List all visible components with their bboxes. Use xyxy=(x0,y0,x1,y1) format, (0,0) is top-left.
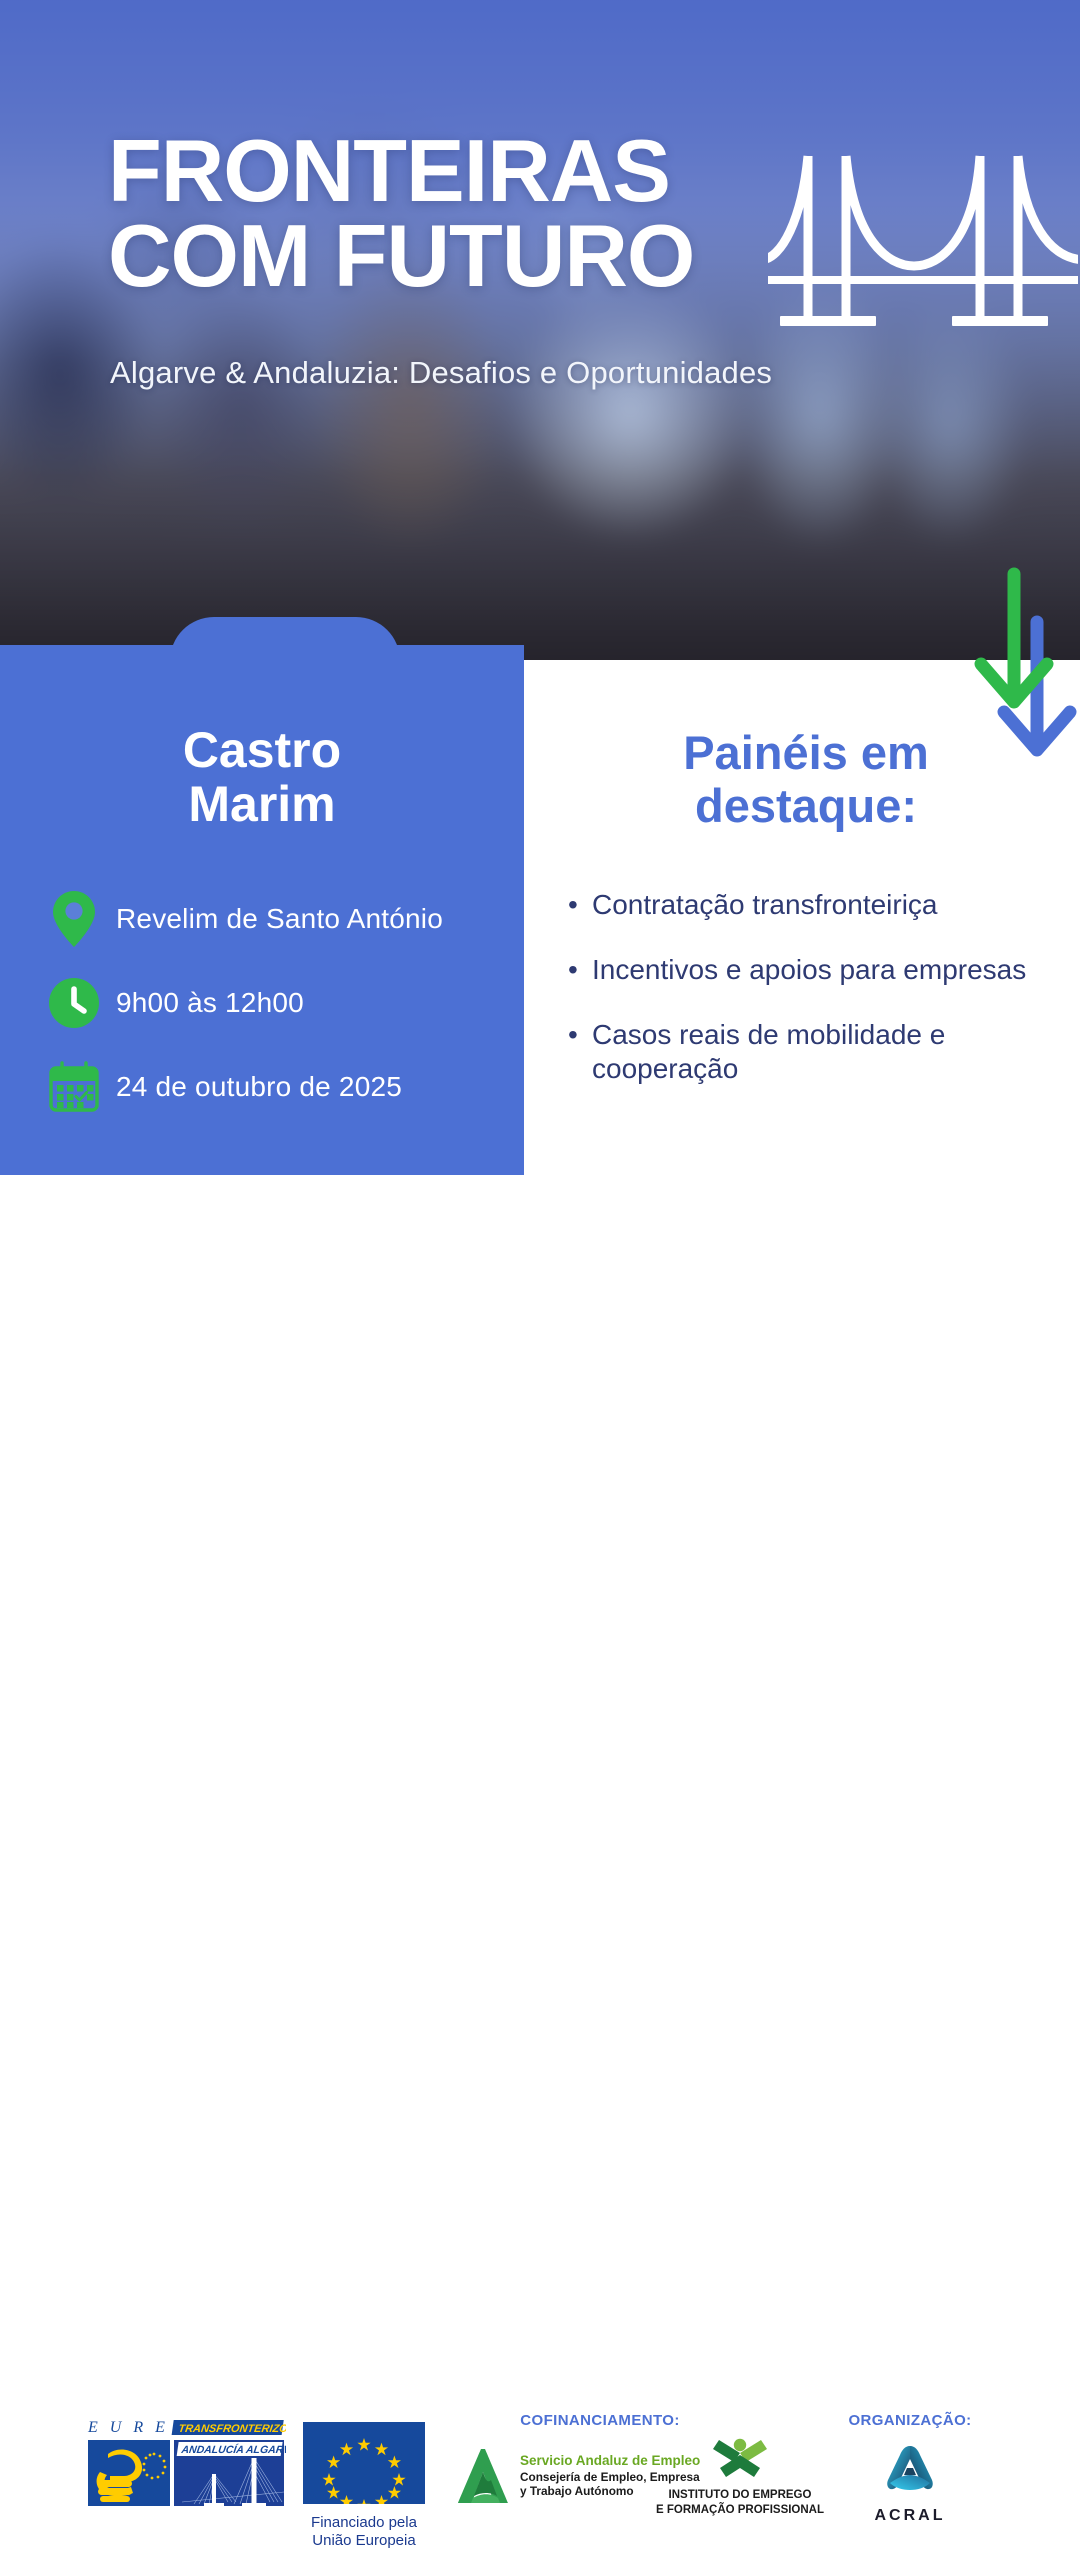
page-title: FRONTEIRASCOM FUTURO xyxy=(108,128,694,299)
bullet-glyph: • xyxy=(568,888,592,922)
bridge-icon xyxy=(768,148,1078,338)
junta-andalucia-a-icon xyxy=(455,2446,513,2506)
footer-logo-bar: E U R E S TRANSFRONTERIZO ANDALUCÍA ALGA… xyxy=(0,1190,1080,1350)
bullet-glyph: • xyxy=(568,953,592,987)
acral-name: ACRAL xyxy=(830,2507,990,2525)
event-city: Castro Marim xyxy=(0,723,524,831)
list-item: • Contratação transfronteiriça xyxy=(568,888,1068,922)
eu-flag-icon xyxy=(303,2422,425,2504)
hero-banner: FRONTEIRASCOM FUTURO Algarve & Andaluzia… xyxy=(0,0,1080,660)
info-time-text: 9h00 às 12h00 xyxy=(106,987,304,1019)
eu-funding-logo: Financiado pela União Europeia xyxy=(303,2422,425,2550)
info-row-location: Revelim de Santo António xyxy=(42,877,512,961)
list-item-label: Casos reais de mobilidade e cooperação xyxy=(592,1018,1068,1086)
panels-bullet-list: • Contratação transfronteiriça • Incenti… xyxy=(568,888,1068,1118)
title-line-2: COM FUTURO xyxy=(108,213,694,298)
list-item-label: Incentivos e apoios para empresas xyxy=(592,953,1026,987)
svg-text:TRANSFRONTERIZO: TRANSFRONTERIZO xyxy=(178,2423,286,2435)
event-details-panel: Castro Marim Revelim de Santo António 9h… xyxy=(0,645,524,1175)
cofinancing-label: COFINANCIAMENTO: xyxy=(470,2412,730,2429)
list-item: • Casos reais de mobilidade e cooperação xyxy=(568,1018,1068,1086)
info-row-date: 24 de outubro de 2025 xyxy=(42,1045,512,1129)
location-pin-icon xyxy=(42,890,106,948)
info-location-text: Revelim de Santo António xyxy=(106,903,443,935)
bullet-glyph: • xyxy=(568,1018,592,1052)
eu-funding-caption: Financiado pela União Europeia xyxy=(303,2514,425,2550)
panels-heading: Painéis em destaque: xyxy=(556,727,1056,832)
clock-icon xyxy=(42,977,106,1029)
iefp-caption: INSTITUTO DO EMPREGO E FORMAÇÃO PROFISSI… xyxy=(655,2488,825,2518)
list-item-label: Contratação transfronteiriça xyxy=(592,888,938,922)
panel-tab-shape xyxy=(170,617,400,661)
info-date-text: 24 de outubro de 2025 xyxy=(106,1071,402,1103)
calendar-icon xyxy=(42,1060,106,1114)
title-line-1: FRONTEIRAS xyxy=(108,121,670,220)
iefp-figure-icon xyxy=(705,2438,775,2480)
svg-text:ANDALUCÍA ALGARVE: ANDALUCÍA ALGARVE xyxy=(180,2443,286,2456)
event-info-list: Revelim de Santo António 9h00 às 12h00 xyxy=(42,877,512,1129)
info-row-time: 9h00 às 12h00 xyxy=(42,961,512,1045)
list-item: • Incentivos e apoios para empresas xyxy=(568,953,1068,987)
eures-transfronterizo-logo: E U R E S TRANSFRONTERIZO ANDALUCÍA ALGA… xyxy=(86,2418,286,2510)
acral-logo: ACRAL xyxy=(830,2442,990,2525)
acral-mark-icon xyxy=(879,2442,941,2500)
subtitle: Algarve & Andaluzia: Desafios e Oportuni… xyxy=(110,355,772,391)
organization-label: ORGANIZAÇÃO: xyxy=(790,2412,1030,2429)
iefp-logo: INSTITUTO DO EMPREGO E FORMAÇÃO PROFISSI… xyxy=(655,2438,825,2518)
